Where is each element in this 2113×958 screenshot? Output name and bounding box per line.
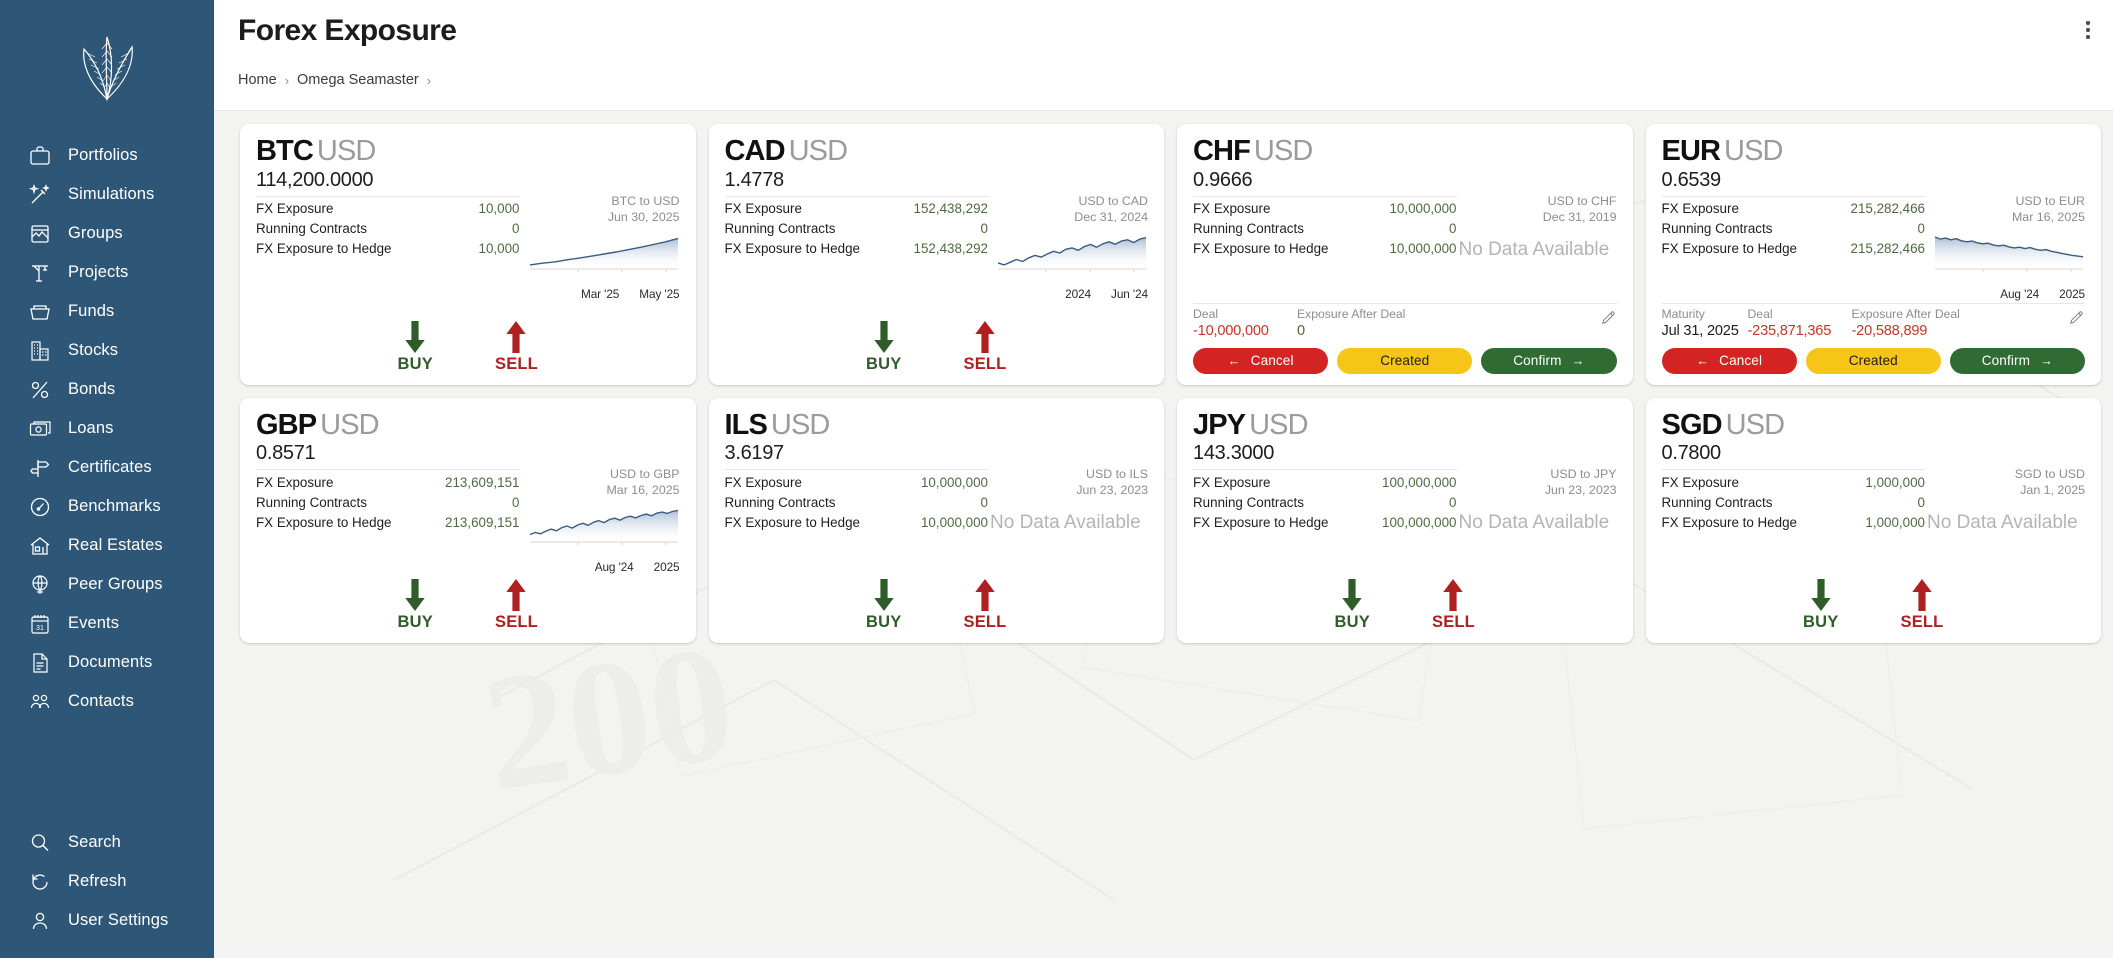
card-header: GBPUSD0.8571 — [256, 411, 680, 467]
sidebar-item-search[interactable]: Search — [0, 823, 214, 862]
sparkline-axis-labels: Mar '25May '25 — [581, 287, 680, 301]
sidebar-item-portfolios[interactable]: Portfolios — [0, 136, 214, 175]
main-content: 200 20 EUI € 520,400 EU27,00 Forex Expos… — [214, 0, 2113, 958]
exchange-rate: 3.6197 — [725, 441, 830, 466]
metric-fx-exposure: FX Exposure100,000,000 — [1193, 472, 1457, 492]
sell-label: SELL — [495, 355, 538, 374]
metrics-list: FX Exposure215,282,466Running Contracts0… — [1662, 193, 1926, 301]
conversion-pair: USD to CAD — [1074, 193, 1148, 209]
sidebar-item-events[interactable]: 31 Events — [0, 604, 214, 643]
card-title-block: SGDUSD0.7800 — [1662, 411, 1785, 467]
no-data-message: No Data Available — [990, 512, 1141, 534]
page-title: Forex Exposure — [214, 14, 2113, 48]
exposure-after-deal-header: Exposure After Deal — [1852, 307, 2060, 322]
sparkline-axis-labels: Aug '242025 — [2000, 287, 2085, 301]
sell-button[interactable]: SELL — [1900, 578, 1943, 632]
deal-value: -235,871,365 — [1748, 322, 1852, 341]
metrics-list: FX Exposure1,000,000Running Contracts0FX… — [1662, 466, 1926, 574]
sell-label: SELL — [963, 355, 1006, 374]
card-title-block: BTCUSD114,200.0000 — [256, 137, 375, 193]
down-arrow-icon — [402, 578, 428, 612]
left-arrow-icon: ← — [1696, 353, 1709, 368]
confirm-label: Confirm — [1982, 353, 2030, 368]
conversion-pair: USD to ILS — [1076, 466, 1148, 482]
sidebar-item-stocks[interactable]: Stocks — [0, 331, 214, 370]
metric-value: 10,000,000 — [921, 473, 988, 492]
sidebar-item-simulations[interactable]: Simulations — [0, 175, 214, 214]
metric-fx-exposure-to-hedge: FX Exposure to Hedge10,000 — [256, 239, 520, 259]
divider — [725, 469, 989, 470]
buy-button[interactable]: BUY — [1803, 578, 1838, 632]
metric-label: Running Contracts — [1193, 493, 1304, 512]
sell-label: SELL — [1900, 613, 1943, 632]
axis-tick-label: 2025 — [654, 560, 680, 574]
axis-tick-label: 2024 — [1065, 287, 1091, 301]
sidebar: Portfolios Simulations Groups Projects F… — [0, 0, 214, 958]
sidebar-item-benchmarks[interactable]: Benchmarks — [0, 487, 214, 526]
sidebar-item-funds[interactable]: Funds — [0, 292, 214, 331]
divider — [725, 196, 989, 197]
metric-value: 0 — [1449, 219, 1456, 238]
sell-label: SELL — [1432, 613, 1475, 632]
card-header: CHFUSD0.9666 — [1193, 137, 1617, 193]
metric-fx-exposure: FX Exposure213,609,151 — [256, 472, 520, 492]
metric-label: Running Contracts — [725, 219, 836, 238]
metric-value: 100,000,000 — [1382, 513, 1456, 532]
metric-running-contracts: Running Contracts0 — [256, 492, 520, 512]
sidebar-item-contacts[interactable]: Contacts — [0, 682, 214, 721]
divider — [1662, 303, 2086, 304]
refresh-icon — [28, 870, 52, 894]
trade-actions: BUYSELL — [725, 574, 1149, 634]
metric-value: 215,282,466 — [1851, 239, 1925, 258]
metric-value: 10,000 — [479, 199, 520, 218]
sell-button[interactable]: SELL — [963, 320, 1006, 374]
axis-tick-label: Aug '24 — [595, 560, 634, 574]
currency-pair: CADUSD — [725, 137, 848, 167]
picture-frame-icon — [28, 222, 52, 246]
brand-logo[interactable] — [0, 0, 214, 128]
divider — [1662, 196, 1926, 197]
quote-currency: USD — [1724, 135, 1783, 167]
down-arrow-icon — [1808, 578, 1834, 612]
metric-running-contracts: Running Contracts0 — [1193, 219, 1457, 239]
buy-label: BUY — [866, 613, 901, 632]
user-icon — [28, 909, 52, 933]
deal-strip: MaturityDealExposure After DealJul 31, 2… — [1662, 307, 2086, 341]
sidebar-item-label: Bonds — [68, 380, 115, 399]
metric-label: FX Exposure — [256, 473, 333, 492]
sidebar-item-label: Certificates — [68, 458, 152, 477]
metric-value: 152,438,292 — [914, 239, 988, 258]
conversion-date: Mar 16, 2025 — [2012, 209, 2085, 225]
buy-label: BUY — [398, 355, 433, 374]
deal-values: -10,000,0000 — [1193, 322, 1591, 341]
currency-pair: GBPUSD — [256, 411, 379, 441]
buy-label: BUY — [398, 613, 433, 632]
sidebar-item-label: Documents — [68, 653, 152, 672]
card-title-block: JPYUSD143.3000 — [1193, 411, 1308, 467]
card-body: FX Exposure100,000,000Running Contracts0… — [1193, 466, 1617, 574]
metric-fx-exposure-to-hedge: FX Exposure to Hedge152,438,292 — [725, 239, 989, 259]
sidebar-item-label: Search — [68, 833, 121, 852]
metrics-list: FX Exposure152,438,292Running Contracts0… — [725, 193, 989, 316]
conversion-label: USD to CHFDec 31, 2019 — [1543, 193, 1617, 225]
metric-label: FX Exposure to Hedge — [725, 239, 860, 258]
buy-button[interactable]: BUY — [398, 320, 433, 374]
up-arrow-icon — [503, 320, 529, 354]
metrics-list: FX Exposure100,000,000Running Contracts0… — [1193, 466, 1457, 574]
conversion-pair: BTC to USD — [608, 193, 680, 209]
metric-value: 215,282,466 — [1851, 199, 1925, 218]
sidebar-item-documents[interactable]: Documents — [0, 643, 214, 682]
created-button[interactable]: Created — [1337, 348, 1472, 374]
deal-action-buttons: ←CancelCreatedConfirm→ — [1662, 348, 2086, 376]
down-arrow-icon — [871, 320, 897, 354]
breadcrumb-item-home[interactable]: Home — [238, 72, 277, 88]
metric-label: FX Exposure to Hedge — [256, 513, 391, 532]
forex-card-btc: BTCUSD114,200.0000FX Exposure10,000Runni… — [240, 124, 696, 385]
metric-label: Running Contracts — [725, 493, 836, 512]
card-title-block: GBPUSD0.8571 — [256, 411, 379, 467]
exposure-after-deal-header: Exposure After Deal — [1297, 307, 1591, 322]
metric-fx-exposure: FX Exposure215,282,466 — [1662, 199, 1926, 219]
metric-value: 152,438,292 — [914, 199, 988, 218]
sell-label: SELL — [963, 613, 1006, 632]
base-currency: GBP — [256, 409, 316, 441]
deal-value: -10,000,000 — [1193, 322, 1297, 341]
axis-tick-label: 2025 — [2059, 287, 2085, 301]
banknote-icon — [28, 417, 52, 441]
metric-label: FX Exposure — [1193, 473, 1270, 492]
sidebar-item-label: Loans — [68, 419, 113, 438]
conversion-pair: USD to JPY — [1545, 466, 1617, 482]
metric-label: FX Exposure — [725, 473, 802, 492]
metric-value: 0 — [1449, 493, 1456, 512]
card-chart-column: USD to CHFDec 31, 2019No Data Available — [1465, 193, 1617, 301]
metric-value: 10,000 — [479, 239, 520, 258]
metric-value: 10,000,000 — [1389, 239, 1456, 258]
sparkline-axis-labels: 2024Jun '24 — [1065, 287, 1148, 301]
metric-label: FX Exposure — [256, 199, 333, 218]
trade-actions: BUYSELL — [256, 574, 680, 634]
metric-label: FX Exposure to Hedge — [1662, 239, 1797, 258]
buy-label: BUY — [1335, 613, 1370, 632]
metric-label: FX Exposure — [1193, 199, 1270, 218]
base-currency: ILS — [725, 409, 767, 441]
sidebar-item-label: Benchmarks — [68, 497, 161, 516]
sidebar-bottom-nav: Search Refresh User Settings — [0, 823, 214, 958]
cancel-label: Cancel — [1251, 353, 1294, 368]
metric-fx-exposure-to-hedge: FX Exposure to Hedge1,000,000 — [1662, 512, 1926, 532]
card-chart-column: SGD to USDJan 1, 2025No Data Available — [1933, 466, 2085, 574]
pencil-icon[interactable] — [1600, 309, 1617, 326]
divider — [1193, 303, 1617, 304]
forex-card-grid: BTCUSD114,200.0000FX Exposure10,000Runni… — [214, 110, 2113, 643]
sidebar-item-label: Portfolios — [68, 146, 138, 165]
forex-card-chf: CHFUSD0.9666FX Exposure10,000,000Running… — [1177, 124, 1633, 385]
house-icon — [28, 534, 52, 558]
exchange-rate: 0.6539 — [1662, 168, 1783, 193]
conversion-label: SGD to USDJan 1, 2025 — [2015, 466, 2085, 498]
created-button[interactable]: Created — [1806, 348, 1941, 374]
exposure-after-deal-value: -20,588,899 — [1852, 322, 2060, 341]
sidebar-item-certificates[interactable]: Certificates — [0, 448, 214, 487]
sidebar-item-label: Events — [68, 614, 119, 633]
conversion-date: Dec 31, 2024 — [1074, 209, 1148, 225]
sparkline-axis-labels: Aug '242025 — [595, 560, 680, 574]
metric-label: FX Exposure to Hedge — [1193, 239, 1328, 258]
right-arrow-icon: → — [1572, 353, 1585, 368]
sidebar-item-label: Groups — [68, 224, 123, 243]
currency-pair: SGDUSD — [1662, 411, 1785, 441]
down-arrow-icon — [871, 578, 897, 612]
forex-card-cad: CADUSD1.4778FX Exposure152,438,292Runnin… — [709, 124, 1165, 385]
sidebar-nav: Portfolios Simulations Groups Projects F… — [0, 128, 214, 721]
confirm-button[interactable]: Confirm→ — [1481, 348, 1616, 374]
document-icon — [28, 651, 52, 675]
conversion-date: Dec 31, 2019 — [1543, 209, 1617, 225]
up-arrow-icon — [1909, 578, 1935, 612]
card-title-block: CHFUSD0.9666 — [1193, 137, 1312, 193]
metric-label: FX Exposure to Hedge — [1662, 513, 1797, 532]
breadcrumb-item-omega-seamaster[interactable]: Omega Seamaster — [297, 72, 419, 88]
trade-actions: BUYSELL — [725, 316, 1149, 376]
sidebar-item-real-estates[interactable]: Real Estates — [0, 526, 214, 565]
metric-value: 0 — [981, 493, 988, 512]
sidebar-item-label: Peer Groups — [68, 575, 163, 594]
search-icon — [28, 831, 52, 855]
metric-label: Running Contracts — [256, 493, 367, 512]
metric-value: 0 — [981, 219, 988, 238]
divider — [1193, 196, 1457, 197]
down-arrow-icon — [1339, 578, 1365, 612]
card-body: FX Exposure213,609,151Running Contracts0… — [256, 466, 680, 574]
deal-headers: DealExposure After Deal — [1193, 307, 1591, 322]
card-title-block: EURUSD0.6539 — [1662, 137, 1783, 193]
sidebar-item-label: Funds — [68, 302, 114, 321]
currency-pair: ILSUSD — [725, 411, 830, 441]
deal-strip: DealExposure After Deal-10,000,0000 — [1193, 307, 1617, 341]
quote-currency: USD — [317, 135, 376, 167]
metric-fx-exposure: FX Exposure10,000,000 — [725, 472, 989, 492]
axis-tick-label: Jun '24 — [1111, 287, 1148, 301]
buy-button[interactable]: BUY — [1335, 578, 1370, 632]
card-header: BTCUSD114,200.0000 — [256, 137, 680, 193]
currency-pair: EURUSD — [1662, 137, 1783, 167]
base-currency: CAD — [725, 135, 785, 167]
metric-value: 0 — [512, 493, 519, 512]
no-data-message: No Data Available — [1459, 512, 1610, 534]
sell-label: SELL — [495, 613, 538, 632]
buy-label: BUY — [866, 355, 901, 374]
exposure-after-deal-value: 0 — [1297, 322, 1591, 341]
sparkline-chart[interactable] — [528, 227, 680, 285]
sell-button[interactable]: SELL — [1432, 578, 1475, 632]
sidebar-item-label: User Settings — [68, 911, 168, 930]
percent-icon — [28, 378, 52, 402]
up-arrow-icon — [972, 320, 998, 354]
divider — [256, 196, 520, 197]
card-body: FX Exposure10,000,000Running Contracts0F… — [725, 466, 1149, 574]
trade-actions: BUYSELL — [256, 316, 680, 376]
sidebar-item-label: Real Estates — [68, 536, 163, 555]
maturity-header: Maturity — [1662, 307, 1748, 322]
card-header: EURUSD0.6539 — [1662, 137, 2086, 193]
metrics-list: FX Exposure213,609,151Running Contracts0… — [256, 466, 520, 574]
sell-button[interactable]: SELL — [495, 320, 538, 374]
sidebar-item-groups[interactable]: Groups — [0, 214, 214, 253]
metric-fx-exposure-to-hedge: FX Exposure to Hedge10,000,000 — [725, 512, 989, 532]
calendar-icon: 31 — [28, 612, 52, 636]
metric-label: FX Exposure — [1662, 199, 1739, 218]
sidebar-item-label: Refresh — [68, 872, 126, 891]
sidebar-item-user-settings[interactable]: User Settings — [0, 901, 214, 940]
metric-label: FX Exposure — [1662, 473, 1739, 492]
forex-card-ils: ILSUSD3.6197FX Exposure10,000,000Running… — [709, 398, 1165, 644]
sell-button[interactable]: SELL — [495, 578, 538, 632]
sidebar-item-bonds[interactable]: Bonds — [0, 370, 214, 409]
conversion-pair: USD to EUR — [2012, 193, 2085, 209]
conversion-pair: SGD to USD — [2015, 466, 2085, 482]
card-header: JPYUSD143.3000 — [1193, 411, 1617, 467]
card-chart-column: BTC to USDJun 30, 2025Mar '25May '25 — [528, 193, 680, 316]
briefcase-icon — [28, 144, 52, 168]
cancel-button[interactable]: ←Cancel — [1662, 348, 1797, 374]
conversion-date: Jun 23, 2023 — [1545, 482, 1617, 498]
metric-running-contracts: Running Contracts0 — [725, 219, 989, 239]
conversion-pair: USD to GBP — [606, 466, 679, 482]
buy-button[interactable]: BUY — [866, 320, 901, 374]
metric-running-contracts: Running Contracts0 — [1662, 219, 1926, 239]
card-chart-column: USD to ILSJun 23, 2023No Data Available — [996, 466, 1148, 574]
base-currency: EUR — [1662, 135, 1721, 167]
card-title-block: CADUSD1.4778 — [725, 137, 848, 193]
card-header: ILSUSD3.6197 — [725, 411, 1149, 467]
divider — [1193, 469, 1457, 470]
pencil-icon[interactable] — [2068, 309, 2085, 326]
trade-actions: BUYSELL — [1662, 574, 2086, 634]
metric-running-contracts: Running Contracts0 — [1193, 492, 1457, 512]
conversion-pair: USD to CHF — [1543, 193, 1617, 209]
forex-card-eur: EURUSD0.6539FX Exposure215,282,466Runnin… — [1646, 124, 2102, 385]
deal-values: Jul 31, 2025-235,871,365-20,588,899 — [1662, 322, 2060, 341]
forex-card-jpy: JPYUSD143.3000FX Exposure100,000,000Runn… — [1177, 398, 1633, 644]
sidebar-item-refresh[interactable]: Refresh — [0, 862, 214, 901]
sparkline-chart[interactable] — [996, 227, 1148, 285]
exchange-rate: 114,200.0000 — [256, 168, 375, 193]
metrics-list: FX Exposure10,000,000Running Contracts0F… — [725, 466, 989, 574]
card-body: FX Exposure152,438,292Running Contracts0… — [725, 193, 1149, 316]
sidebar-item-projects[interactable]: Projects — [0, 253, 214, 292]
globe-icon — [28, 573, 52, 597]
currency-pair: JPYUSD — [1193, 411, 1308, 441]
sidebar-item-label: Simulations — [68, 185, 154, 204]
deal-header: Deal — [1748, 307, 1852, 322]
card-body: FX Exposure215,282,466Running Contracts0… — [1662, 193, 2086, 301]
cancel-button[interactable]: ←Cancel — [1193, 348, 1328, 374]
card-chart-column: USD to JPYJun 23, 2023No Data Available — [1465, 466, 1617, 574]
gauge-icon — [28, 495, 52, 519]
metric-value: 100,000,000 — [1382, 473, 1456, 492]
buy-button[interactable]: BUY — [866, 578, 901, 632]
quote-currency: USD — [1254, 135, 1313, 167]
quote-currency: USD — [320, 409, 379, 441]
metric-value: 0 — [512, 219, 519, 238]
base-currency: CHF — [1193, 135, 1250, 167]
quote-currency: USD — [1726, 409, 1785, 441]
conversion-label: USD to GBPMar 16, 2025 — [606, 466, 679, 498]
conversion-label: USD to CADDec 31, 2024 — [1074, 193, 1148, 225]
trade-actions: BUYSELL — [1193, 574, 1617, 634]
forex-card-gbp: GBPUSD0.8571FX Exposure213,609,151Runnin… — [240, 398, 696, 644]
maturity-value: Jul 31, 2025 — [1662, 322, 1748, 341]
divider — [256, 469, 520, 470]
cancel-label: Cancel — [1719, 353, 1762, 368]
metric-value: 1,000,000 — [1865, 513, 1925, 532]
deal-header: Deal — [1193, 307, 1297, 322]
quote-currency: USD — [789, 135, 848, 167]
sparkline-chart[interactable] — [1933, 227, 2085, 285]
metric-fx-exposure-to-hedge: FX Exposure to Hedge10,000,000 — [1193, 239, 1457, 259]
exchange-rate: 0.9666 — [1193, 168, 1312, 193]
sidebar-item-label: Stocks — [68, 341, 118, 360]
crane-icon — [28, 261, 52, 285]
metric-label: Running Contracts — [256, 219, 367, 238]
created-label: Created — [1380, 353, 1429, 368]
no-data-message: No Data Available — [1927, 512, 2078, 534]
left-arrow-icon: ← — [1228, 353, 1241, 368]
metrics-list: FX Exposure10,000Running Contracts0FX Ex… — [256, 193, 520, 316]
up-arrow-icon — [503, 578, 529, 612]
card-body: FX Exposure10,000,000Running Contracts0F… — [1193, 193, 1617, 301]
sidebar-item-loans[interactable]: Loans — [0, 409, 214, 448]
exchange-rate: 1.4778 — [725, 168, 848, 193]
people-icon — [28, 690, 52, 714]
magic-wand-icon — [28, 183, 52, 207]
card-title-block: ILSUSD3.6197 — [725, 411, 830, 467]
buildings-icon — [28, 339, 52, 363]
metric-label: Running Contracts — [1193, 219, 1304, 238]
conversion-label: USD to ILSJun 23, 2023 — [1076, 466, 1148, 498]
sidebar-item-label: Projects — [68, 263, 128, 282]
metric-label: FX Exposure to Hedge — [725, 513, 860, 532]
metric-fx-exposure-to-hedge: FX Exposure to Hedge213,609,151 — [256, 512, 520, 532]
no-data-message: No Data Available — [1459, 239, 1610, 261]
exchange-rate: 143.3000 — [1193, 441, 1308, 466]
metric-label: FX Exposure to Hedge — [256, 239, 391, 258]
metric-running-contracts: Running Contracts0 — [1662, 492, 1926, 512]
confirm-button[interactable]: Confirm→ — [1950, 348, 2085, 374]
buy-button[interactable]: BUY — [398, 578, 433, 632]
metrics-list: FX Exposure10,000,000Running Contracts0F… — [1193, 193, 1457, 301]
currency-pair: BTCUSD — [256, 137, 375, 167]
down-arrow-icon — [402, 320, 428, 354]
metric-fx-exposure: FX Exposure10,000 — [256, 199, 520, 219]
metric-label: Running Contracts — [1662, 219, 1773, 238]
metric-value: 0 — [1918, 493, 1925, 512]
card-chart-column: USD to GBPMar 16, 2025Aug '242025 — [528, 466, 680, 574]
buy-label: BUY — [1803, 613, 1838, 632]
card-body: FX Exposure10,000Running Contracts0FX Ex… — [256, 193, 680, 316]
kebab-menu-icon[interactable] — [2077, 16, 2099, 44]
sell-button[interactable]: SELL — [963, 578, 1006, 632]
deal-headers: MaturityDealExposure After Deal — [1662, 307, 2060, 322]
sidebar-item-peer-groups[interactable]: Peer Groups — [0, 565, 214, 604]
card-header: CADUSD1.4778 — [725, 137, 1149, 193]
sparkline-chart[interactable] — [528, 500, 680, 558]
base-currency: SGD — [1662, 409, 1722, 441]
